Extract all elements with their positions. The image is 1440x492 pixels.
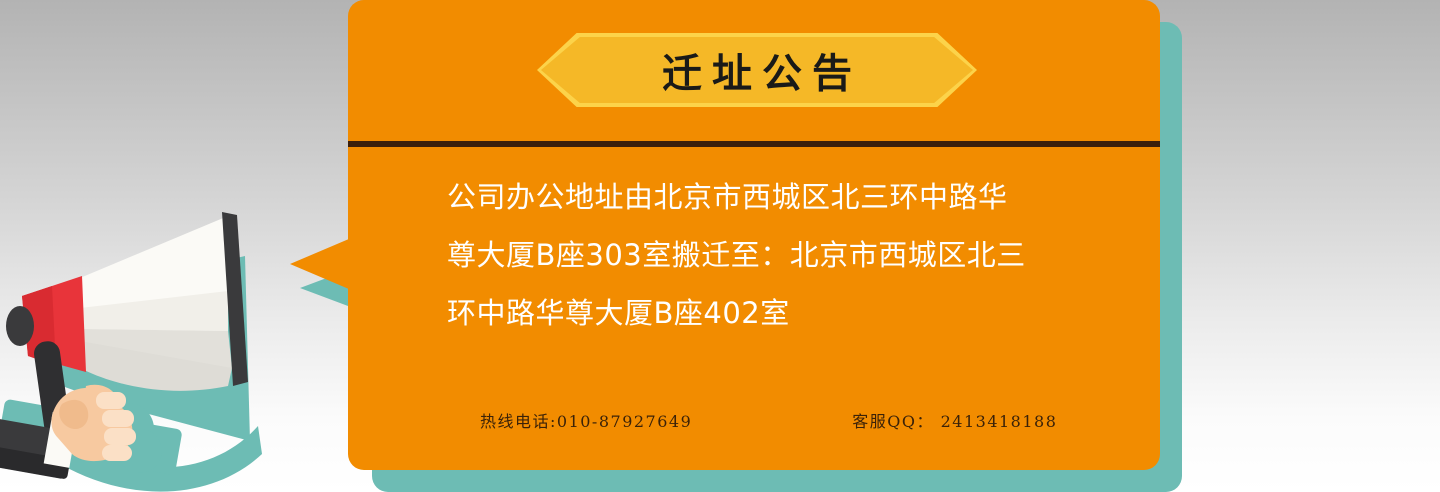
qq-text: 客服QQ： 2413418188 [852,408,1057,432]
announcement-body-line: 公司办公地址由北京市西城区北三环中路华 [447,168,1092,226]
title-divider [348,141,1160,147]
megaphone-hand-illustration [0,186,300,492]
megaphone-horn [80,216,232,391]
title-banner: 迁址公告 [537,33,977,107]
contact-footer: 热线电话:010-87927649 客服QQ： 2413418188 [447,408,1087,432]
announcement-body: 公司办公地址由北京市西城区北三环中路华 尊大厦B座303室搬迁至：北京市西城区北… [447,168,1092,342]
hotline-text: 热线电话:010-87927649 [480,408,692,432]
announcement-body-line: 尊大厦B座303室搬迁至：北京市西城区北三 [447,226,1092,284]
announcement-body-line: 环中路华尊大厦B座402室 [447,284,1092,342]
page-title: 迁址公告 [537,33,977,107]
announcement-banner-stage: 迁址公告 公司办公地址由北京市西城区北三环中路华 尊大厦B座303室搬迁至：北京… [0,0,1440,492]
